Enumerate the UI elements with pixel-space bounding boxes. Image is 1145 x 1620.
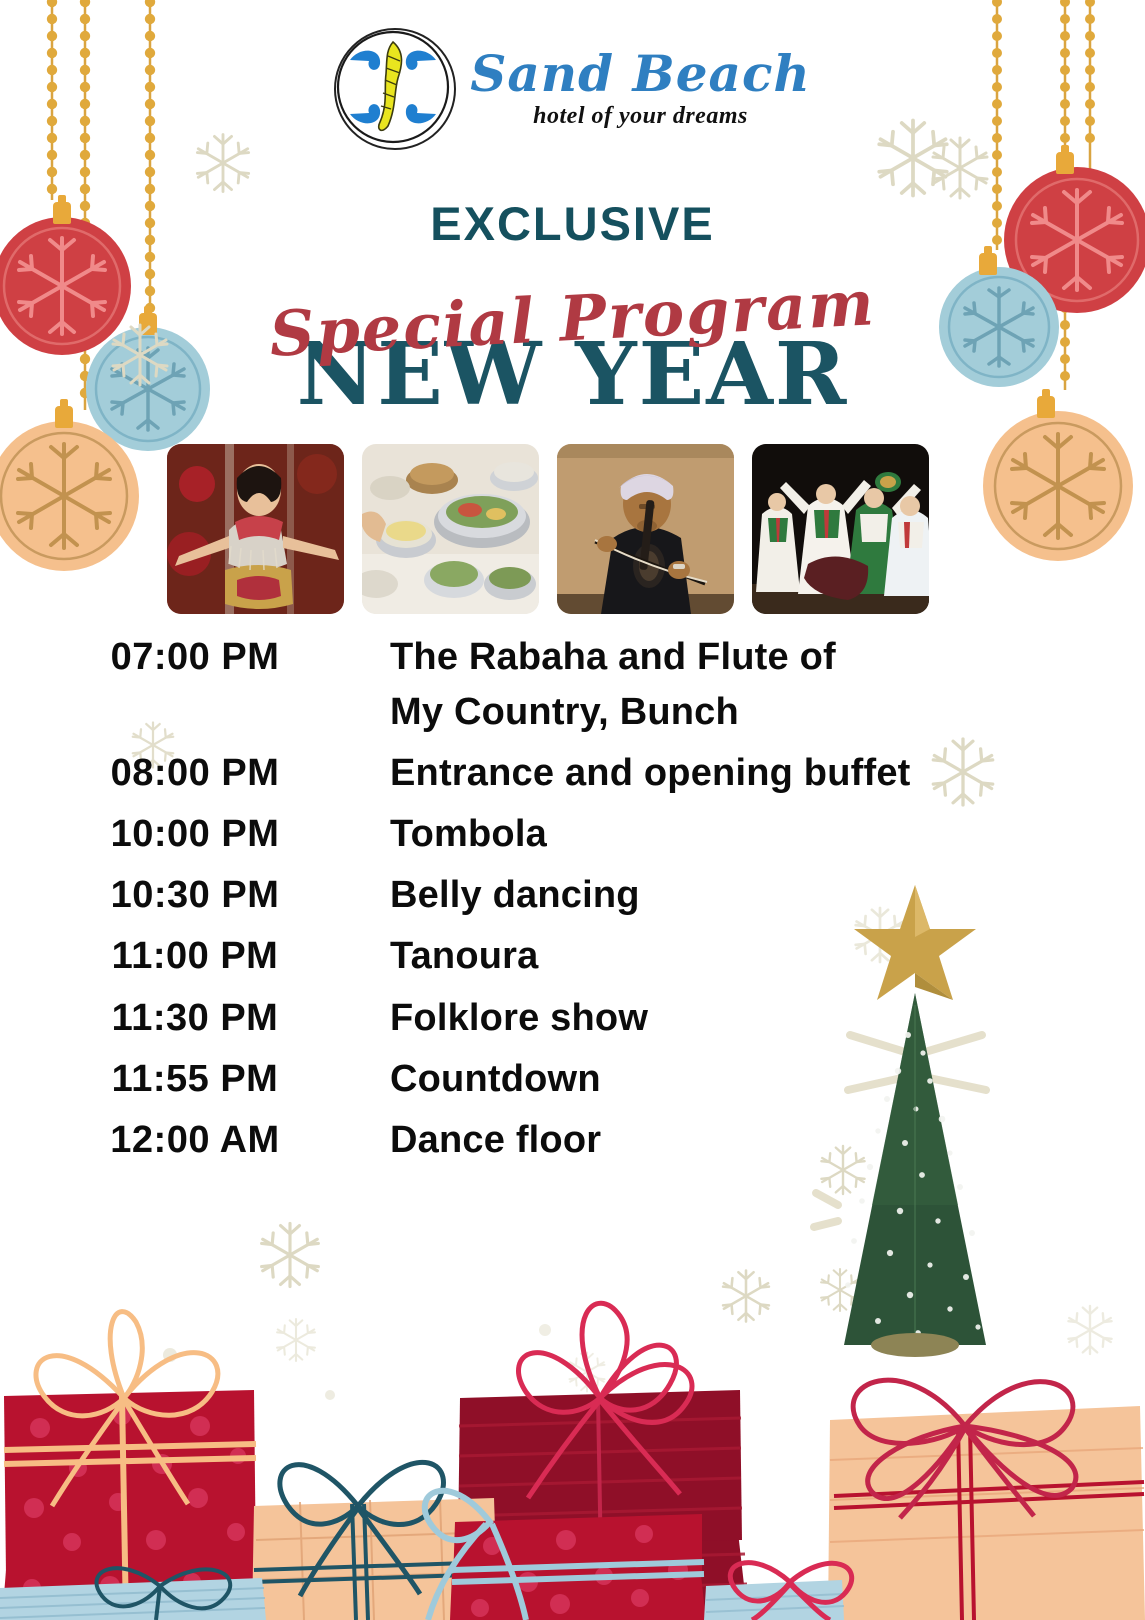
bow-teal-small <box>96 1568 230 1620</box>
belly-dancer-photo <box>167 444 344 614</box>
new-year-program-poster: Sand Beach hotel of your dreams EXCLUSIV… <box>0 0 1145 1620</box>
event-name: The Rabaha and Flute of My Country, Bunc… <box>390 630 836 740</box>
photo-strip <box>167 444 929 614</box>
bow-teal <box>280 1462 444 1596</box>
bow-lightblue <box>425 1491 526 1620</box>
event-name: Entrance and opening buffet <box>390 746 911 801</box>
event-time: 11:55 PM <box>0 1052 390 1107</box>
brand-name: Sand Beach <box>470 49 811 99</box>
gift-box-darkred-center <box>452 1303 748 1620</box>
gift-boxes-group <box>0 1230 1145 1620</box>
event-name: Belly dancing <box>390 868 640 923</box>
event-time: 11:00 PM <box>0 929 390 984</box>
brand-logo: Sand Beach hotel of your dreams <box>0 28 1145 150</box>
bow-crimson <box>853 1380 1076 1518</box>
event-name: Tombola <box>390 807 547 862</box>
rababa-musician-photo <box>557 444 734 614</box>
ornament-peach-left <box>0 420 140 572</box>
buffet-photo <box>362 444 539 614</box>
event-time: 10:30 PM <box>0 868 390 923</box>
event-name: Folklore show <box>390 991 648 1046</box>
gift-box-peach-plaid <box>252 1462 498 1620</box>
event-time: 12:00 AM <box>0 1113 390 1168</box>
event-time: 11:30 PM <box>0 991 390 1046</box>
table-row: 11:55 PM Countdown <box>0 1052 1100 1107</box>
table-row: 08:00 PM Entrance and opening buffet <box>0 746 1100 801</box>
table-row: 10:30 PM Belly dancing <box>0 868 1100 923</box>
folklore-dancers-photo <box>752 444 929 614</box>
title-block: NEW YEAR Special Program <box>0 282 1145 412</box>
event-name: Tanoura <box>390 929 538 984</box>
table-row: 07:00 PM The Rabaha and Flute of My Coun… <box>0 630 1100 740</box>
event-name-line2: My Country, Bunch <box>390 685 836 740</box>
table-row: 12:00 AM Dance floor <box>0 1113 1100 1168</box>
bow-pink-center <box>519 1303 692 1498</box>
event-name: Dance floor <box>390 1113 601 1168</box>
event-time: 07:00 PM <box>0 630 390 685</box>
kicker-heading: EXCLUSIVE <box>0 196 1145 251</box>
table-row: 10:00 PM Tombola <box>0 807 1100 862</box>
gift-box-crimson-left <box>2 1312 258 1620</box>
brand-tagline: hotel of your dreams <box>533 103 748 130</box>
bow-peach-left <box>36 1312 218 1506</box>
gift-box-peach-right <box>828 1380 1145 1620</box>
event-time: 08:00 PM <box>0 746 390 801</box>
ornament-peach-right <box>982 410 1134 562</box>
event-name: Countdown <box>390 1052 601 1107</box>
gift-box-blue-redbow <box>704 1563 852 1620</box>
table-row: 11:00 PM Tanoura <box>0 929 1100 984</box>
shell-in-circle-logo <box>334 28 456 150</box>
table-row: 11:30 PM Folklore show <box>0 991 1100 1046</box>
event-name-line1: The Rabaha and Flute of <box>390 636 836 678</box>
gift-box-red-blueribbon <box>425 1491 706 1620</box>
bow-red-small <box>730 1563 851 1620</box>
program-schedule: 07:00 PM The Rabaha and Flute of My Coun… <box>0 630 1100 1174</box>
event-time: 10:00 PM <box>0 807 390 862</box>
gift-box-blue-bottom <box>0 1568 266 1620</box>
